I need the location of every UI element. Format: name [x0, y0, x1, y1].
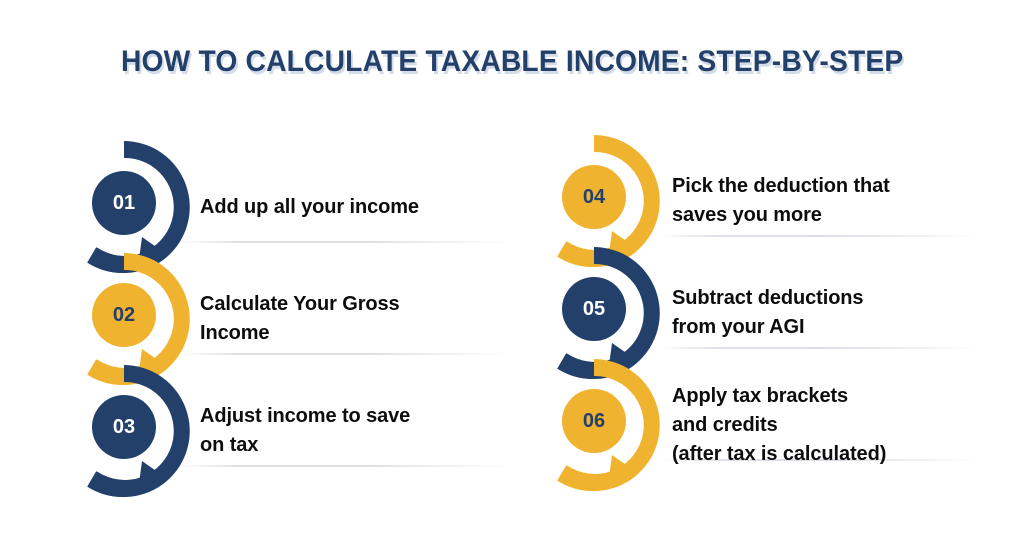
step-label-line: Pick the deduction that	[672, 172, 992, 201]
step-number: 05	[583, 298, 605, 320]
step-number: 02	[113, 304, 135, 326]
step-item[interactable]: 03 Adjust income to save on tax	[42, 357, 512, 505]
step-number: 06	[583, 410, 605, 432]
step-label-line: Adjust income to save	[200, 402, 512, 431]
step-number: 01	[113, 192, 135, 214]
right-column: 04 Pick the deduction that saves you mor…	[512, 133, 982, 503]
step-label: Adjust income to save on tax	[200, 357, 512, 505]
circular-arrow-icon: 06	[520, 351, 668, 499]
step-label-line: Calculate Your Gross	[200, 290, 512, 319]
step-number: 04	[583, 186, 606, 208]
page-title: HOW TO CALCULATE TAXABLE INCOME: STEP-BY…	[121, 45, 903, 79]
step-label-line: saves you more	[672, 201, 992, 230]
step-label-line: (after tax is calculated)	[672, 440, 992, 469]
step-label-line: Apply tax brackets	[672, 382, 992, 411]
infographic-page: HOW TO CALCULATE TAXABLE INCOME: STEP-BY…	[0, 0, 1024, 533]
step-label-line: and credits	[672, 411, 992, 440]
step-label-line: from your AGI	[672, 313, 992, 342]
step-label-line: Subtract deductions	[672, 284, 992, 313]
step-item[interactable]: 06 Apply tax brackets and credits (after…	[512, 351, 982, 499]
step-label-line: Income	[200, 319, 512, 348]
page-title-container: HOW TO CALCULATE TAXABLE INCOME: STEP-BY…	[0, 45, 1024, 79]
step-number: 03	[113, 416, 135, 438]
step-label-line: Add up all your income	[200, 193, 512, 222]
left-column: 01 Add up all your income 02 Calculate Y…	[42, 133, 512, 503]
step-label-line: on tax	[200, 431, 512, 460]
circular-arrow-icon: 03	[50, 357, 198, 505]
step-label: Apply tax brackets and credits (after ta…	[672, 351, 992, 499]
